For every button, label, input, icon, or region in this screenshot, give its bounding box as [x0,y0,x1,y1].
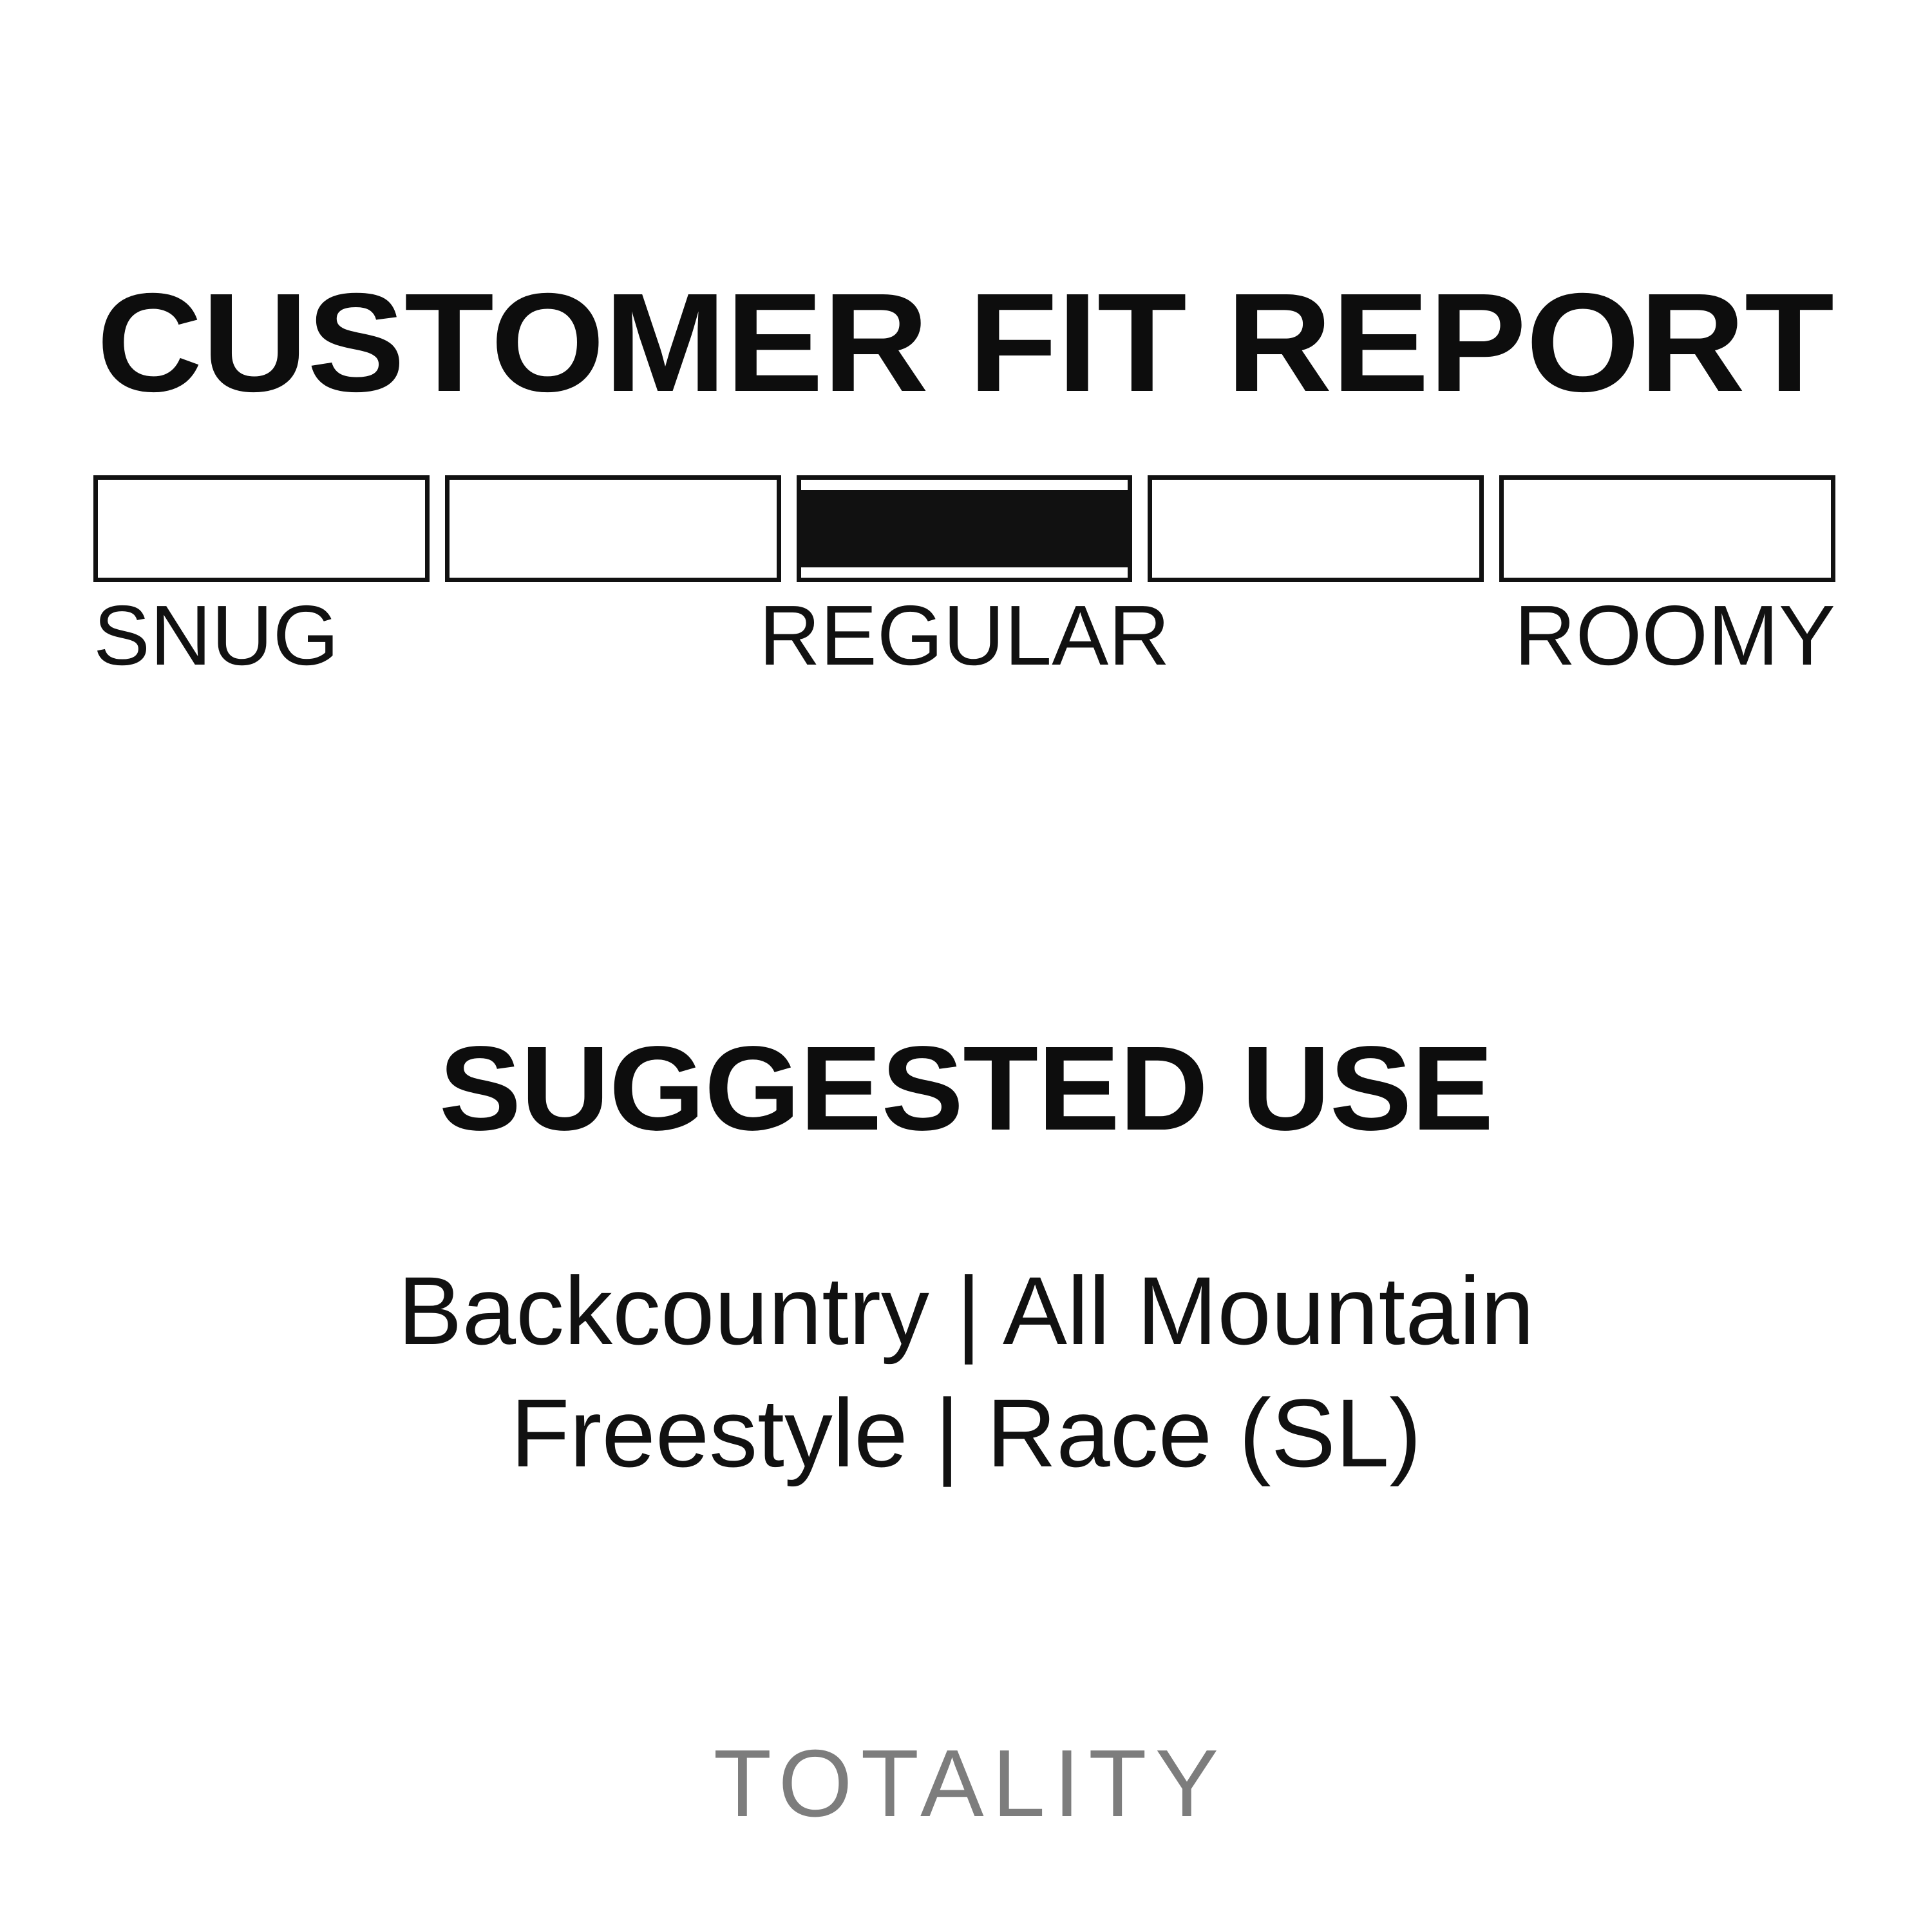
suggested-use-line-2: Freestyle | Race (SL) [0,1372,1932,1494]
suggested-use-line-1: Backcountry | All Mountain [0,1249,1932,1372]
suggested-use-list: Backcountry | All Mountain Freestyle | R… [0,1249,1932,1494]
brand-wordmark: TOTALITY [0,1732,1932,1835]
fit-label-snug: SNUG [93,594,426,677]
fit-scale-segment-4[interactable] [1148,475,1484,582]
fit-scale-segment-1[interactable] [93,475,430,582]
fit-scale-labels: SNUG REGULAR ROOMY [93,594,1835,677]
fit-report-card: CUSTOMER FIT REPORT SNUG REGULAR ROOMY S… [0,0,1932,1932]
fit-label-regular: REGULAR [759,594,1170,677]
fit-scale-segment-3-active[interactable] [797,475,1133,582]
fit-scale-segment-2[interactable] [445,475,781,582]
fit-scale [93,475,1835,582]
page-title: CUSTOMER FIT REPORT [97,269,1914,417]
fit-scale-segment-5[interactable] [1499,475,1835,582]
fit-label-roomy: ROOMY [1502,594,1835,677]
suggested-use-title: SUGGESTED USE [0,1029,1932,1149]
